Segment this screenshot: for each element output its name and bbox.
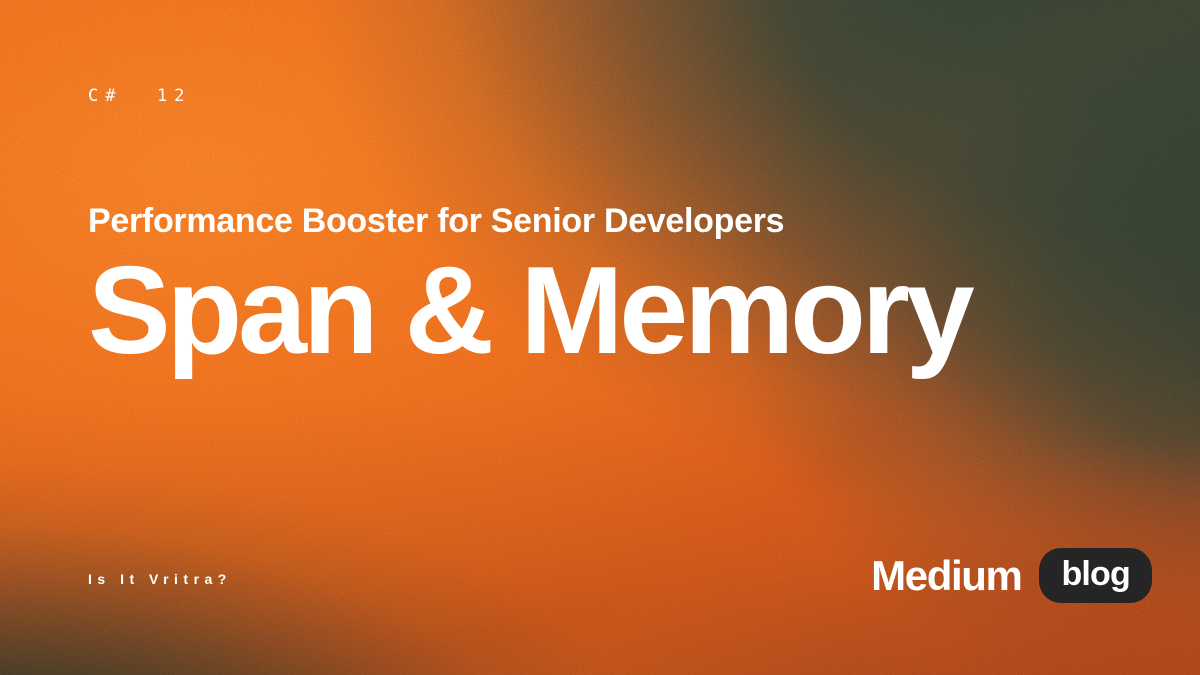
- medium-wordmark: Medium: [871, 555, 1021, 597]
- medium-blog-lockup: Medium blog: [871, 548, 1152, 603]
- cover-card: C# 12 Performance Booster for Senior Dev…: [0, 0, 1200, 675]
- eyebrow-label: C# 12: [88, 88, 191, 105]
- cover-content: C# 12 Performance Booster for Senior Dev…: [0, 0, 1200, 675]
- blog-pill-badge: blog: [1039, 548, 1152, 603]
- kicker-label: Is It Vritra?: [88, 572, 232, 586]
- title-block: Performance Booster for Senior Developer…: [88, 204, 1148, 374]
- cover-headline: Span & Memory: [88, 248, 1148, 374]
- cover-subtitle: Performance Booster for Senior Developer…: [88, 204, 1148, 240]
